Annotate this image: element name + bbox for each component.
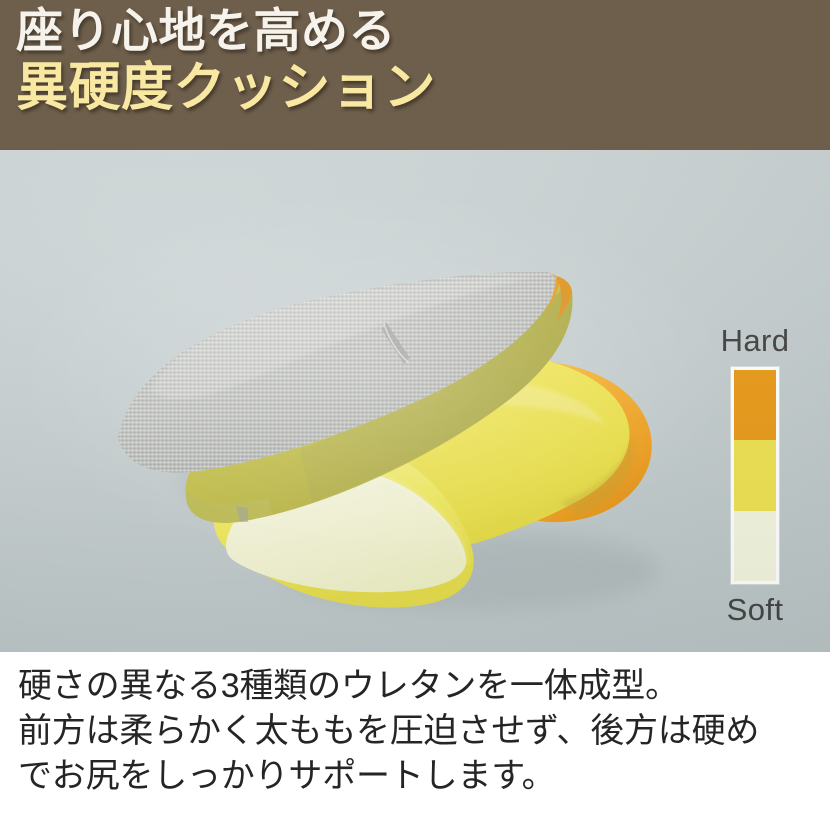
caption-line-3: でお尻をしっかりサポートします。	[18, 754, 816, 799]
page-title-secondary: 異硬度クッション	[16, 61, 830, 116]
legend-gradient-bar	[731, 367, 779, 584]
header-banner: 座り心地を高める 異硬度クッション	[0, 0, 830, 150]
product-feature-card: 座り心地を高める 異硬度クッション	[0, 0, 830, 830]
page-title-primary: 座り心地を高める	[16, 6, 830, 56]
header-title-group: 座り心地を高める 異硬度クッション	[16, 6, 830, 116]
caption-line-2: 前方は柔らかく太ももを圧迫させず、後方は硬め	[18, 709, 816, 754]
legend-segment-soft	[734, 511, 776, 581]
legend-segment-hard	[734, 370, 776, 440]
legend-label-soft: Soft	[727, 594, 784, 625]
legend-segment-medium	[734, 440, 776, 510]
hardness-legend: Hard Soft	[697, 325, 813, 625]
caption-block: 硬さの異なる3種類のウレタンを一体成型。 前方は柔らかく太ももを圧迫させず、後方…	[0, 652, 830, 830]
legend-label-hard: Hard	[721, 325, 790, 356]
caption-line-1: 硬さの異なる3種類のウレタンを一体成型。	[18, 664, 816, 709]
product-image-stage: Hard Soft	[0, 150, 830, 652]
